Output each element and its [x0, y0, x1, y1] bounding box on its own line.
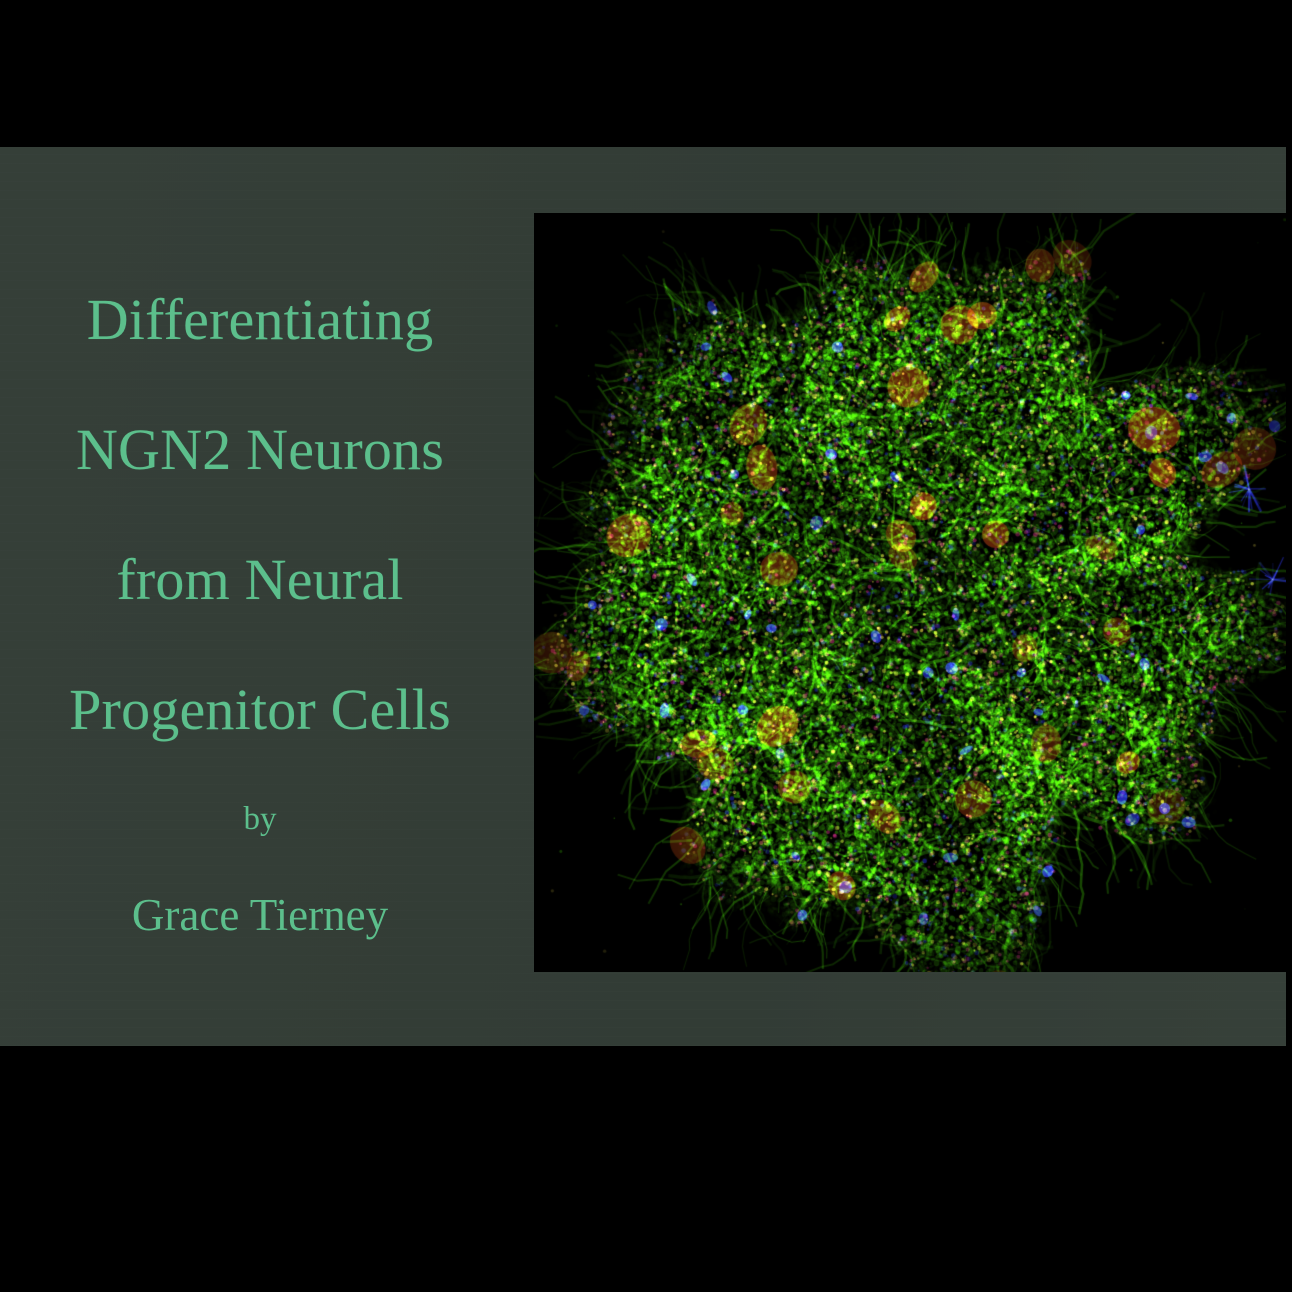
slide-root: Differentiating NGN2 Neurons from Neural… [0, 0, 1292, 1292]
title-line-4: Progenitor Cells [69, 645, 451, 775]
author-name: Grace Tierney [132, 885, 388, 945]
title-line-1: Differentiating [87, 255, 434, 385]
title-line-3: from Neural [116, 515, 403, 645]
title-line-2: NGN2 Neurons [76, 385, 444, 515]
title-column: Differentiating NGN2 Neurons from Neural… [0, 147, 520, 1046]
slide-panel: Differentiating NGN2 Neurons from Neural… [0, 147, 1286, 1046]
micrograph-frame: Immunofluorescence confocal image of a d… [534, 213, 1286, 972]
byline-prefix: by [244, 797, 277, 841]
fluorescence-micrograph [534, 213, 1286, 972]
